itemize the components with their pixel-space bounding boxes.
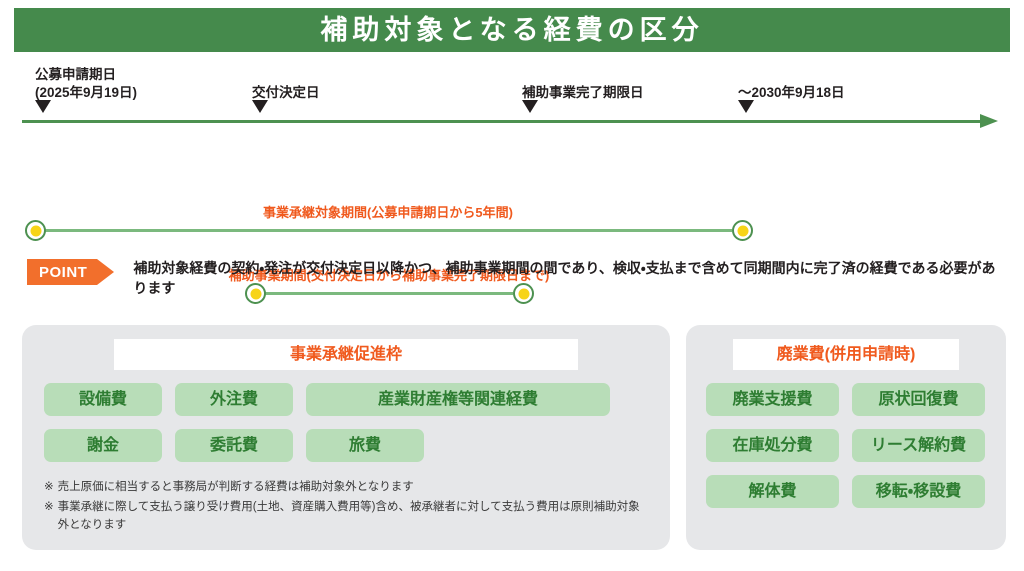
timeline-period-node-start	[25, 220, 46, 241]
chip-row: 謝金委託費旅費	[44, 429, 648, 462]
page-title: 補助対象となる経費の区分	[320, 17, 703, 44]
note-text: 事業承継に際して支払う譲り受け費用(土地、資産購入費用等)含め、被承継者に対して…	[58, 499, 648, 535]
timeline-tick-label: 公募申請期日(2025年9月19日)	[35, 66, 137, 102]
note-text: 売上原価に相当すると事務局が判断する経費は補助対象外となります	[58, 479, 648, 497]
panel-right-title-bar: 廃業費(併用申請時)	[733, 339, 959, 370]
point-callout: POINT 補助対象経費の契約・発注が交付決定日以降かつ、補助事業期間の間であり…	[27, 258, 1007, 299]
timeline-tick-triangle-icon	[738, 100, 754, 113]
timeline-period-label: 事業承継対象期間(公募申請期日から5年間)	[263, 206, 513, 219]
timeline-tick-triangle-icon	[35, 100, 51, 113]
expense-chip[interactable]: 産業財産権等関連経費	[306, 383, 610, 416]
panel-right-title: 廃業費(併用申請時)	[777, 347, 916, 363]
timeline-tick-triangle-icon	[252, 100, 268, 113]
expense-chip[interactable]: 原状回復費	[852, 383, 985, 416]
timeline-period-succession-target-period: 事業承継対象期間(公募申請期日から5年間)	[0, 220, 1024, 241]
point-badge: POINT	[27, 259, 97, 285]
expense-chip[interactable]: 解体費	[706, 475, 839, 508]
point-badge-label: POINT	[39, 265, 87, 280]
chip-row: 在庫処分費リース解約費	[706, 429, 986, 462]
expense-chip[interactable]: 委託費	[175, 429, 293, 462]
panel-left-title-bar: 事業承継促進枠	[114, 339, 578, 370]
chip-row: 設備費外注費産業財産権等関連経費	[44, 383, 648, 416]
chip-row: 解体費移転・移設費	[706, 475, 986, 508]
header-banner: 補助対象となる経費の区分	[14, 8, 1010, 52]
expense-chip[interactable]: 廃業支援費	[706, 383, 839, 416]
note-bullet-icon: ※	[44, 499, 54, 535]
panel-left-chip-rows: 設備費外注費産業財産権等関連経費謝金委託費旅費	[44, 383, 648, 462]
timeline-period-node-end	[732, 220, 753, 241]
panel-left-title: 事業承継促進枠	[290, 347, 402, 363]
expense-panels: 事業承継促進枠 設備費外注費産業財産権等関連経費謝金委託費旅費 ※売上原価に相当…	[0, 325, 1024, 557]
panel-succession-frame: 事業承継促進枠 設備費外注費産業財産権等関連経費謝金委託費旅費 ※売上原価に相当…	[22, 325, 670, 550]
timeline-axis-line	[22, 120, 982, 123]
panel-right-chip-rows: 廃業支援費原状回復費在庫処分費リース解約費解体費移転・移設費	[706, 383, 986, 508]
panel-left-notes: ※売上原価に相当すると事務局が判断する経費は補助対象外となります※事業承継に際し…	[44, 479, 648, 534]
panel-note: ※事業承継に際して支払う譲り受け費用(土地、資産購入費用等)含め、被承継者に対し…	[44, 499, 648, 535]
timeline: 公募申請期日(2025年9月19日)交付決定日補助事業完了期限日～2030年9月…	[0, 60, 1024, 250]
point-description: 補助対象経費の契約・発注が交付決定日以降かつ、補助事業期間の間であり、検収・支払…	[133, 258, 1007, 299]
expense-chip[interactable]: 外注費	[175, 383, 293, 416]
expense-chip[interactable]: 旅費	[306, 429, 424, 462]
expense-chip[interactable]: 在庫処分費	[706, 429, 839, 462]
chip-row: 廃業支援費原状回復費	[706, 383, 986, 416]
expense-chip[interactable]: リース解約費	[852, 429, 985, 462]
timeline-period-line	[45, 229, 732, 232]
timeline-tick-triangle-icon	[522, 100, 538, 113]
panel-note: ※売上原価に相当すると事務局が判断する経費は補助対象外となります	[44, 479, 648, 497]
expense-chip[interactable]: 設備費	[44, 383, 162, 416]
panel-closure-expenses: 廃業費(併用申請時) 廃業支援費原状回復費在庫処分費リース解約費解体費移転・移設…	[686, 325, 1006, 550]
expense-chip[interactable]: 移転・移設費	[852, 475, 985, 508]
note-bullet-icon: ※	[44, 479, 54, 497]
timeline-arrow-icon	[980, 114, 998, 128]
expense-chip[interactable]: 謝金	[44, 429, 162, 462]
timeline-tick-label: 補助事業完了期限日	[522, 84, 644, 102]
